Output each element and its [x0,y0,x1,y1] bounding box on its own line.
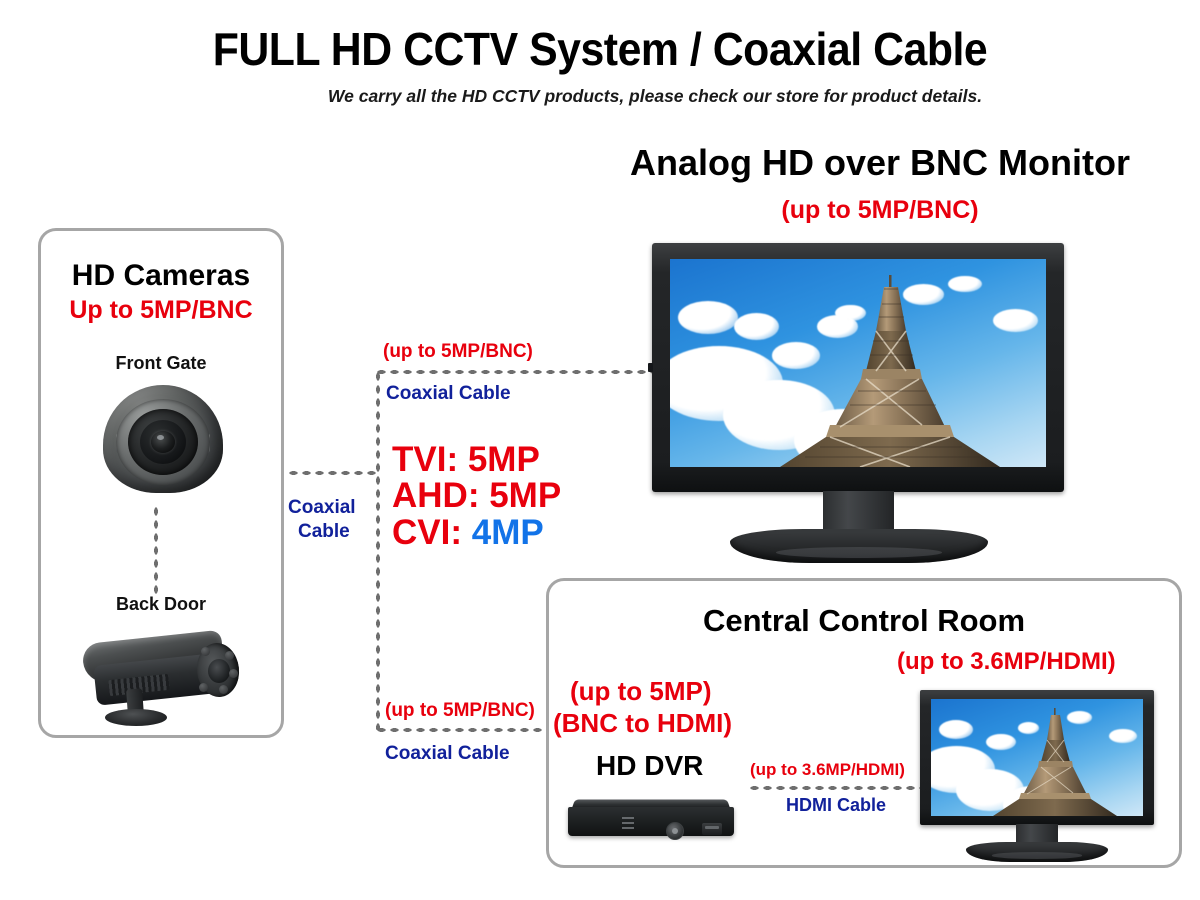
dvr-usb-port[interactable] [702,823,722,835]
bullet-camera-icon [69,621,259,731]
monitor-section-subtitle: (up to 5MP/BNC) [560,196,1200,225]
analog-hd-monitor [652,243,1064,561]
monitor-screen [670,259,1046,467]
coax-camera-label-line1: Coaxial [288,497,356,519]
coax-top-cable-label: Coaxial Cable [386,383,511,405]
dvr-spec-line1: (up to 5MP) [570,676,712,707]
hdmi-dotted-line [748,785,932,791]
hd-cameras-title: HD Cameras [41,259,281,293]
front-gate-label: Front Gate [41,353,281,374]
camera-link-dotted-line [153,505,159,595]
coax-camera-dotted-line [287,470,379,476]
spec-ahd: AHD: 5MP [392,478,602,514]
page-title: FULL HD CCTV System / Coaxial Cable [42,22,1158,76]
spec-cvi: CVI: 4MP [392,515,602,551]
hd-cameras-panel: HD Cameras Up to 5MP/BNC Front Gate Back… [38,228,284,738]
eiffel-tower-scene [670,259,1046,467]
monitor-stand-base [730,529,988,563]
signal-format-spec-list: TVI: 5MP AHD: 5MP CVI: 4MP [392,442,602,551]
spec-tvi: TVI: 5MP [392,442,602,478]
coax-bottom-dotted-line [375,727,547,733]
coax-top-dotted-line [375,369,661,375]
control-room-monitor [920,690,1154,862]
hd-dvr-device [566,798,736,844]
monitor-stand-neck [823,491,894,534]
hd-dvr-label: HD DVR [596,750,703,782]
coax-top-spec-label: (up to 5MP/BNC) [383,341,533,363]
coax-bottom-spec-label: (up to 5MP/BNC) [385,700,535,722]
eiffel-tower-scene-small [931,699,1143,816]
control-room-monitor-spec: (up to 3.6MP/HDMI) [897,648,1116,676]
small-monitor-stand-base [966,842,1108,862]
monitor-bezel [652,243,1064,492]
coax-spine-dotted-line [375,370,381,730]
coax-bottom-cable-label: Coaxial Cable [385,743,510,765]
coax-camera-label-line2: Cable [298,521,350,543]
page-subtitle: We carry all the HD CCTV products, pleas… [0,86,1200,107]
small-monitor-screen [931,699,1143,816]
small-monitor-bezel [920,690,1154,825]
dvr-jog-dial[interactable] [666,822,684,840]
back-door-label: Back Door [41,594,281,615]
dvr-spec-line2: (BNC to HDMI) [553,708,732,739]
monitor-section-title: Analog HD over BNC Monitor [560,142,1200,184]
hdmi-spec-label: (up to 3.6MP/HDMI) [750,760,905,780]
monitor-power-button[interactable] [648,363,653,372]
hd-cameras-subtitle: Up to 5MP/BNC [41,296,281,325]
dome-camera-icon [97,383,229,499]
central-control-room-title: Central Control Room [549,603,1179,639]
hdmi-cable-label: HDMI Cable [786,795,886,816]
